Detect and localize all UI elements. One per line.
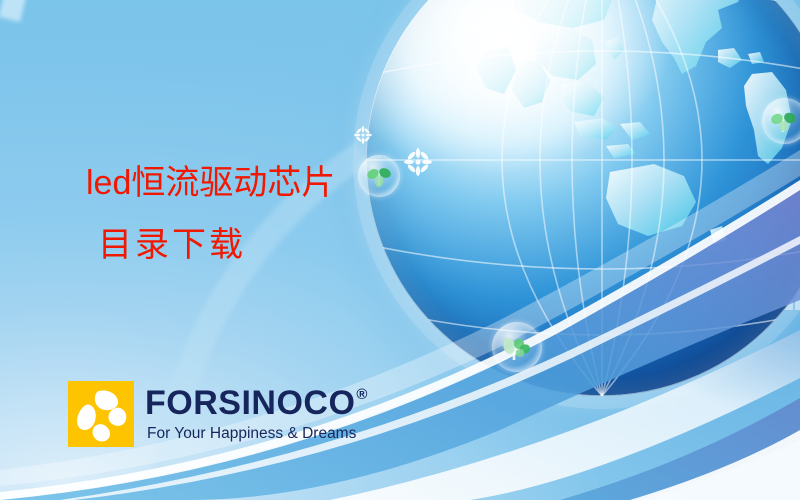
registered-trademark-icon: ® (356, 387, 368, 402)
leaf-sprout-icon (762, 98, 800, 144)
logo-tagline: For Your Happiness & Dreams (147, 426, 368, 442)
logo-brand-name: FORSINOCO (145, 386, 355, 420)
banner-canvas: led恒流驱动芯片 目录下载 FORSINOCO ® For Your Happ… (0, 0, 800, 500)
headline-line-2: 目录下载 (98, 228, 426, 262)
leaf-sprout-icon (492, 322, 542, 372)
sparkle-flower-small-icon (354, 126, 372, 144)
bubble-leaf-3 (762, 98, 800, 144)
bubble-leaf-2 (492, 322, 542, 372)
logo-wordmark: FORSINOCO ® (145, 386, 368, 420)
page-title: led恒流驱动芯片 目录下载 (86, 166, 426, 262)
four-petal-pinwheel-icon (68, 381, 134, 447)
logo-text-block: FORSINOCO ® For Your Happiness & Dreams (145, 386, 368, 442)
brand-logo: FORSINOCO ® For Your Happiness & Dreams (68, 381, 368, 447)
headline-line-1: led恒流驱动芯片 (86, 166, 426, 200)
